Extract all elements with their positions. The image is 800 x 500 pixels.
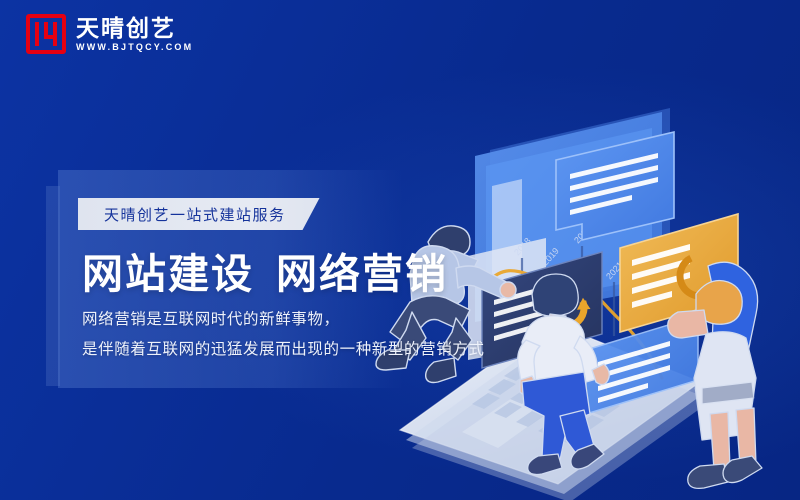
logo-company-name: 天晴创艺 (76, 16, 193, 40)
headline-part-2: 网络营销 (276, 251, 448, 297)
red-square-logo-icon (26, 14, 66, 54)
page-title: 网站建设网络营销 (82, 240, 448, 300)
hero-banner: 2018 2019 2020 2021 (0, 0, 800, 500)
ribbon-tagline: 天晴创艺一站式建站服务 (78, 198, 320, 230)
subtitle-line-2: 是伴随着互联网的迅猛发展而出现的一种新型的营销方式 (82, 335, 485, 365)
logo-website-url: WWW.BJTQCY.COM (76, 43, 193, 52)
subtitle-line-1: 网络营销是互联网时代的新鲜事物， (82, 305, 485, 335)
site-logo[interactable]: 天晴创艺 WWW.BJTQCY.COM (26, 14, 193, 54)
headline-part-1: 网站建设 (82, 251, 254, 297)
hero-subtitle: 网络营销是互联网时代的新鲜事物， 是伴随着互联网的迅猛发展而出现的一种新型的营销… (82, 305, 485, 365)
